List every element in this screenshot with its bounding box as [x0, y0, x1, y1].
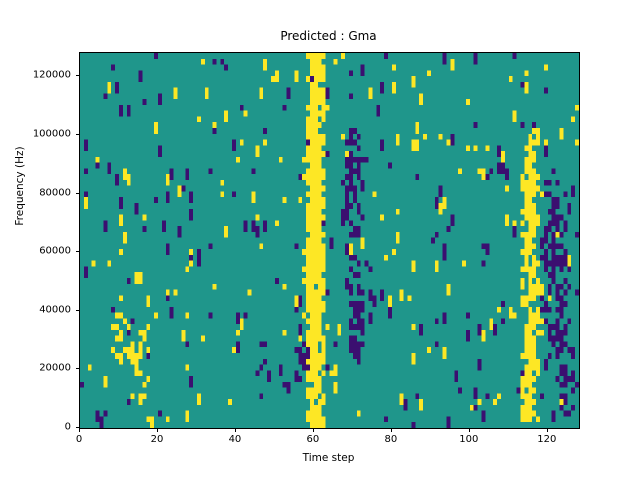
y-tick-label: 100000 [0, 129, 71, 140]
y-tick-label: 80000 [0, 187, 71, 198]
x-axis-label: Time step [79, 452, 578, 464]
x-tick-mark [313, 428, 314, 432]
x-tick-mark [469, 428, 470, 432]
x-tick-label: 60 [307, 434, 320, 445]
x-tick-mark [391, 428, 392, 432]
x-tick-label: 100 [459, 434, 478, 445]
x-tick-label: 120 [537, 434, 556, 445]
x-tick-label: 40 [229, 434, 242, 445]
y-tick-label: 120000 [0, 70, 71, 81]
y-tick-mark [76, 134, 80, 135]
y-tick-label: 0 [0, 422, 71, 433]
y-tick-mark [76, 75, 80, 76]
x-tick-label: 20 [151, 434, 164, 445]
y-tick-mark [76, 368, 80, 369]
y-axis-label: Frequency (Hz) [14, 86, 26, 286]
y-tick-label: 60000 [0, 246, 71, 257]
figure-canvas: Predicted : Gma 020406080100120 02000040… [0, 0, 640, 480]
y-tick-mark [76, 193, 80, 194]
y-tick-mark [76, 310, 80, 311]
x-tick-mark [79, 428, 80, 432]
x-tick-label: 0 [76, 434, 82, 445]
y-tick-mark [76, 251, 80, 252]
x-tick-mark [547, 428, 548, 432]
x-tick-mark [157, 428, 158, 432]
heatmap-plot-area[interactable] [79, 52, 580, 429]
y-tick-label: 20000 [0, 363, 71, 374]
x-tick-mark [235, 428, 236, 432]
heatmap-image [80, 53, 579, 428]
y-tick-mark [76, 427, 80, 428]
x-tick-label: 80 [385, 434, 398, 445]
y-tick-label: 40000 [0, 304, 71, 315]
page-title: Predicted : Gma [79, 29, 578, 43]
